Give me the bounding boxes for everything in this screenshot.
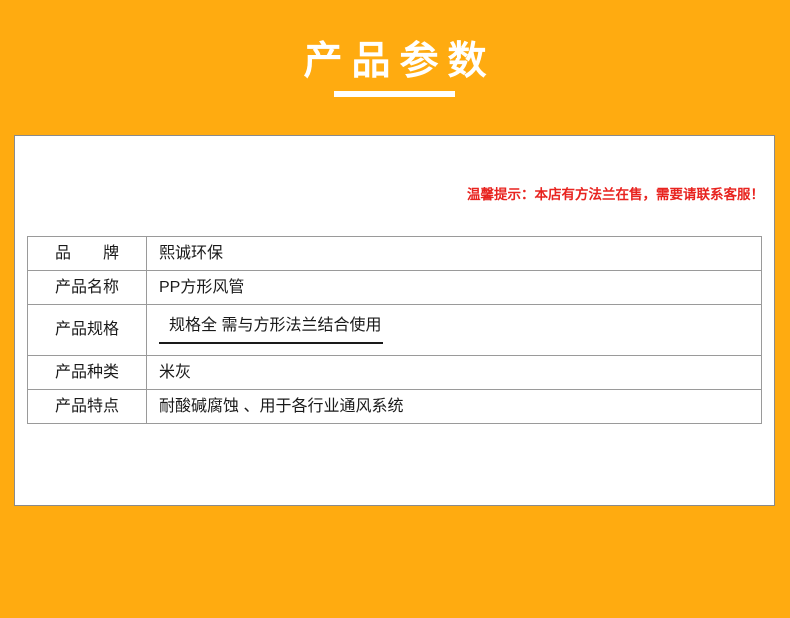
- spec-value-cell: 熙诚环保: [147, 237, 762, 271]
- page-title: 产品参数: [0, 38, 790, 86]
- spec-value-text: 耐酸碱腐蚀 、用于各行业通风系统: [159, 397, 403, 417]
- page-header: 产品参数: [0, 0, 790, 135]
- spec-value-text: 规格全 需与方形法兰结合使用: [159, 316, 383, 344]
- spec-table: 品 牌 熙诚环保 产品名称 PP方形风管 产品规格 规格全 需与方形法兰结合使用: [27, 236, 762, 424]
- table-row: 产品规格 规格全 需与方形法兰结合使用: [28, 305, 762, 356]
- spec-label-cell: 产品名称: [28, 271, 147, 305]
- table-row: 品 牌 熙诚环保: [28, 237, 762, 271]
- spec-panel: 温馨提示：本店有方法兰在售，需要请联系客服！ 品 牌 熙诚环保 产品名称 PP方…: [14, 135, 775, 506]
- product-parameters-page: 产品参数 温馨提示：本店有方法兰在售，需要请联系客服！ 品 牌 熙诚环保 产品名…: [0, 0, 790, 618]
- spec-value-cell: 米灰: [147, 356, 762, 390]
- table-row: 产品特点 耐酸碱腐蚀 、用于各行业通风系统: [28, 390, 762, 424]
- spec-value-text: 熙诚环保: [159, 244, 223, 264]
- spec-value-cell: PP方形风管: [147, 271, 762, 305]
- spec-label-cell: 产品特点: [28, 390, 147, 424]
- spec-label-cell: 产品种类: [28, 356, 147, 390]
- spec-value-text: PP方形风管: [159, 278, 244, 298]
- spec-value-text: 米灰: [159, 363, 191, 383]
- notice-text: 温馨提示：本店有方法兰在售，需要请联系客服！: [467, 186, 764, 204]
- spec-label-cell: 品 牌: [28, 237, 147, 271]
- title-underline-bar: [334, 91, 455, 97]
- table-row: 产品名称 PP方形风管: [28, 271, 762, 305]
- table-row: 产品种类 米灰: [28, 356, 762, 390]
- spec-value-cell: 耐酸碱腐蚀 、用于各行业通风系统: [147, 390, 762, 424]
- spec-label-cell: 产品规格: [28, 305, 147, 356]
- spec-value-cell: 规格全 需与方形法兰结合使用: [147, 305, 762, 356]
